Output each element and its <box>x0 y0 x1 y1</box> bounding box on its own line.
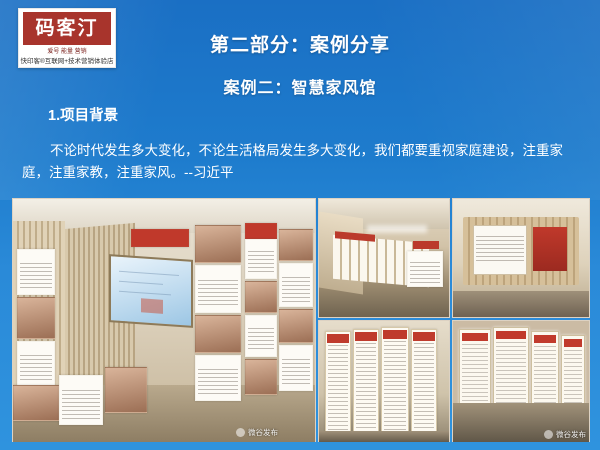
photo-exhibition-hall-long-wall <box>318 198 450 318</box>
section-subheading: 1.项目背景 <box>48 104 118 125</box>
photo-lit-corridor-panels <box>452 320 590 444</box>
bottom-strip <box>0 442 600 450</box>
body-paragraph: 不论时代发生多大变化，不论生活格局发生多大变化，我们都要重视家庭建设，注重家庭，… <box>22 140 582 183</box>
photo-wooden-wall-red-banner <box>452 198 590 318</box>
slide-title-primary: 第二部分：案例分享 <box>0 30 600 57</box>
photo-tall-scroll-display-boards <box>318 320 450 444</box>
presentation-slide: 码客汀 爱号 能量 营销 快印客®互联网+技术营销体验店 第二部分：案例分享 案… <box>0 0 600 450</box>
photo-corridor-wood-slat-wall-display <box>12 198 316 444</box>
slide-title-secondary: 案例二：智慧家风馆 <box>0 74 600 98</box>
photo-grid <box>12 198 588 442</box>
